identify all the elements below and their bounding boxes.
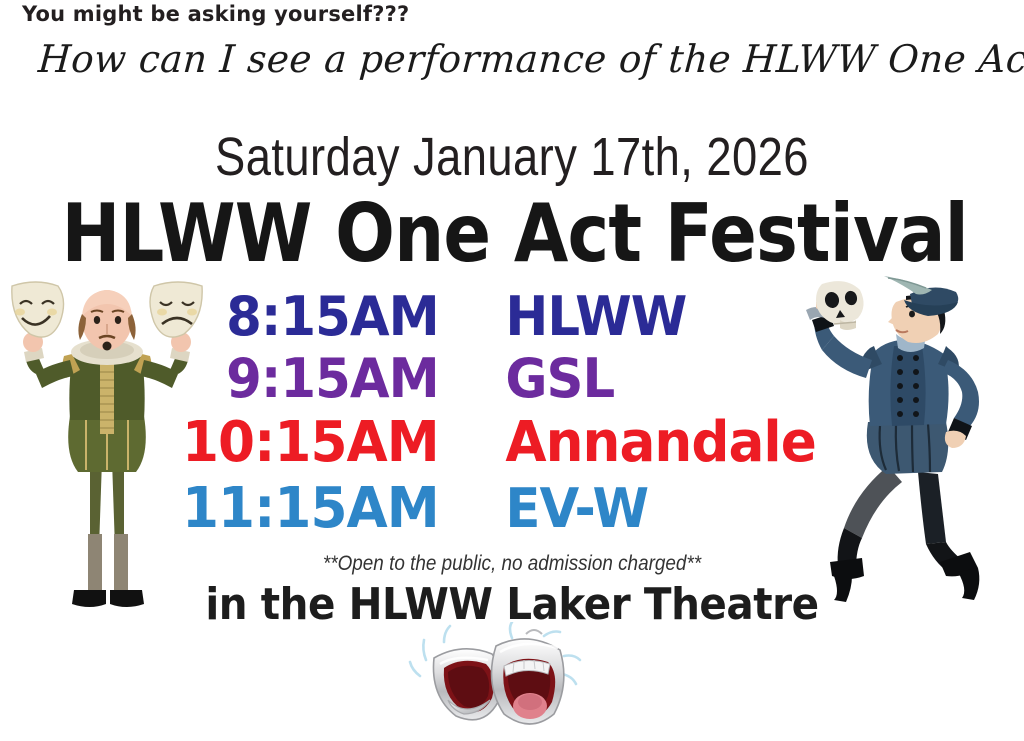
chrome-comedy-tragedy-masks-illustration xyxy=(404,622,586,741)
hamlet-svg xyxy=(800,276,1024,616)
one-act-festival-poster: You might be asking yourself??? How can … xyxy=(0,0,1024,741)
shakespeare-holding-masks-illustration xyxy=(2,278,212,618)
feather-plume-icon xyxy=(884,276,932,295)
intro-question-script: How can I see a performance of the HLWW … xyxy=(37,36,965,82)
tragedy-mask-icon xyxy=(150,282,202,337)
hamlet-holding-skull-illustration xyxy=(800,276,1024,616)
shakespeare-svg xyxy=(2,278,212,618)
comedy-mask-icon xyxy=(12,282,64,337)
bottom-masks-svg xyxy=(404,622,586,741)
event-date: Saturday January 17th, 2026 xyxy=(82,128,942,186)
intro-question-small: You might be asking yourself??? xyxy=(22,2,409,26)
chrome-comedy-mask-icon xyxy=(492,630,564,724)
page-title: HLWW One Act Festival xyxy=(61,192,962,276)
